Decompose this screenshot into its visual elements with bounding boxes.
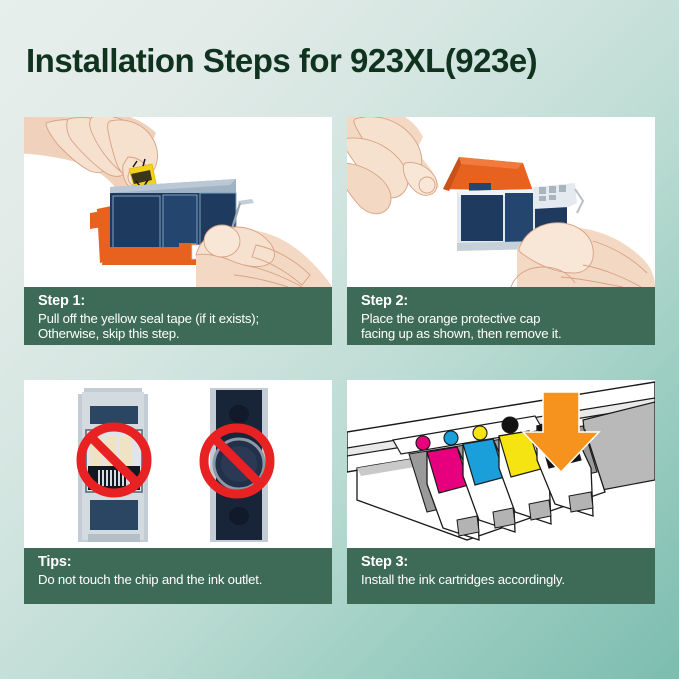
yellow-dot <box>473 426 487 440</box>
caption-body: Do not touch the chip and the ink outlet… <box>38 572 322 588</box>
seal-tape-illustration-svg <box>24 117 332 287</box>
panel-step-2: Step 2: Place the orange protective cap … <box>347 117 655 345</box>
panel-step-1: Step 1: Pull off the yellow seal tape (i… <box>24 117 332 345</box>
caption-body: Place the orange protective cap facing u… <box>361 311 645 342</box>
illustration-step-1 <box>24 117 332 287</box>
illustration-step-2 <box>347 117 655 287</box>
caption-body: Install the ink cartridges accordingly. <box>361 572 645 588</box>
magenta-dot <box>416 436 430 450</box>
protective-cap-illustration-svg <box>347 117 655 287</box>
illustration-step-3 <box>347 380 655 548</box>
caption-tips: Tips: Do not touch the chip and the ink … <box>24 548 332 604</box>
caption-title: Tips: <box>38 554 322 572</box>
illustration-tips <box>24 380 332 548</box>
caption-step-1: Step 1: Pull off the yellow seal tape (i… <box>24 287 332 345</box>
cyan-dot <box>444 431 458 445</box>
caption-step-3: Step 3: Install the ink cartridges accor… <box>347 548 655 604</box>
do-not-touch-illustration-svg <box>24 380 332 548</box>
caption-title: Step 3: <box>361 554 645 572</box>
caption-title: Step 2: <box>361 293 645 311</box>
page-title: Installation Steps for 923XL(923e) <box>26 42 537 80</box>
caption-body: Pull off the yellow seal tape (if it exi… <box>38 311 322 342</box>
panel-tips: Tips: Do not touch the chip and the ink … <box>24 380 332 604</box>
printer-carriage-illustration-svg <box>347 380 655 548</box>
panel-step-3: Step 3: Install the ink cartridges accor… <box>347 380 655 604</box>
caption-step-2: Step 2: Place the orange protective cap … <box>347 287 655 345</box>
caption-title: Step 1: <box>38 293 322 311</box>
black-dot <box>502 417 518 433</box>
